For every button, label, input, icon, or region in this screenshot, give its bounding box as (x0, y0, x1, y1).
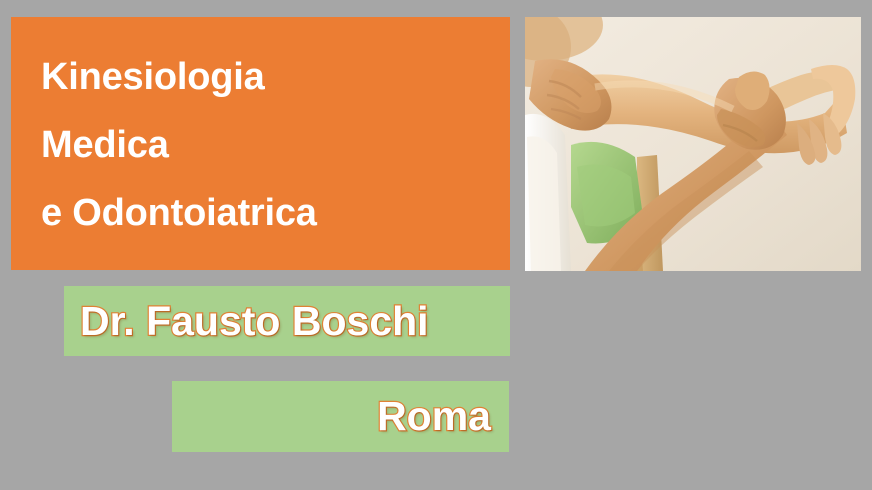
title-line-1: Kinesiologia (41, 43, 510, 111)
title-line-3: e Odontoiatrica (41, 179, 510, 247)
title-block: Kinesiologia Medica e Odontoiatrica (11, 17, 510, 270)
presenter-name-bar: Dr. Fausto Boschi (64, 286, 510, 356)
presenter-city-bar: Roma (172, 381, 509, 452)
presentation-slide: Kinesiologia Medica e Odontoiatrica (0, 0, 872, 490)
presenter-city: Roma (377, 396, 491, 437)
title-line-2: Medica (41, 111, 510, 179)
therapy-photo (525, 17, 861, 271)
therapy-photo-illustration (525, 17, 861, 271)
presenter-name: Dr. Fausto Boschi (80, 301, 429, 342)
